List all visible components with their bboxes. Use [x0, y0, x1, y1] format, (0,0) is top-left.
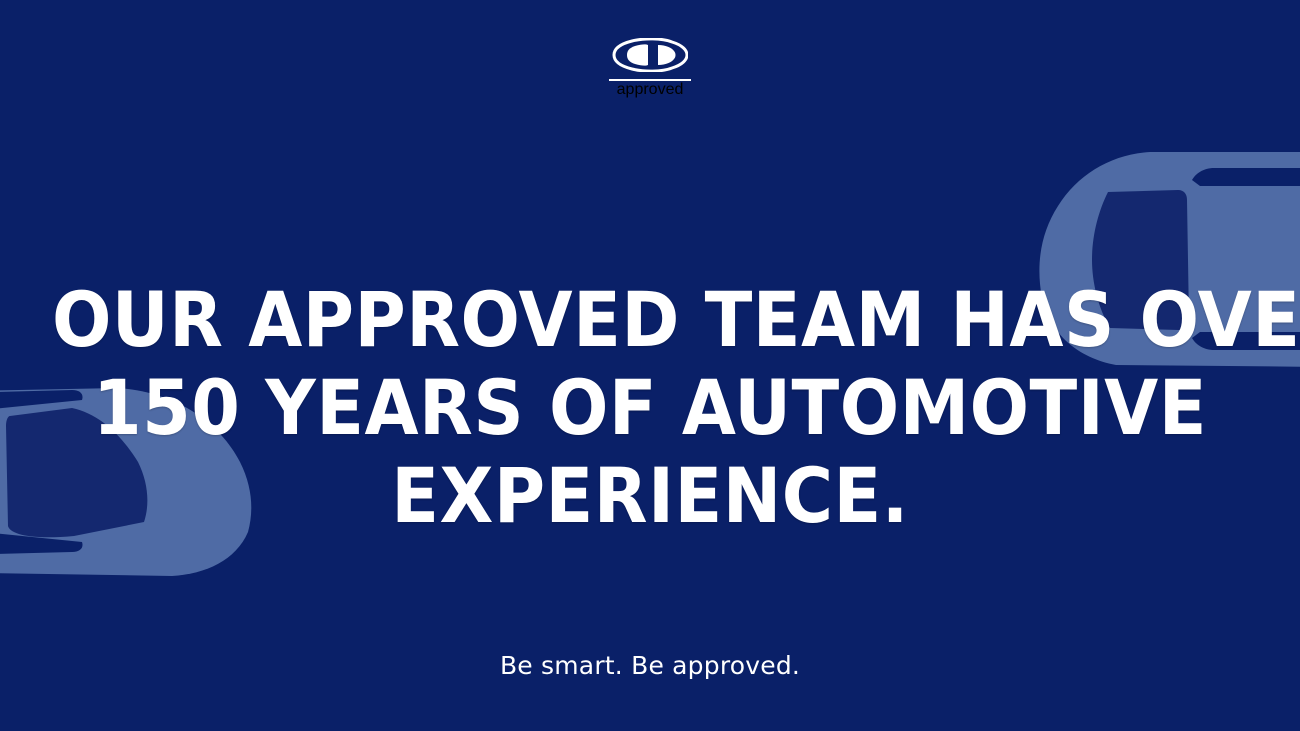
- slide-canvas: approved OUR APPROVED TEAM HAS OVER 150 …: [0, 0, 1300, 731]
- headline-line-2: 150 YEARS OF AUTOMOTIVE: [52, 364, 1248, 452]
- car-top-view-icon: [612, 38, 688, 72]
- tagline: Be smart. Be approved.: [0, 653, 1300, 678]
- headline-line-3: EXPERIENCE.: [52, 452, 1248, 540]
- brand-logo: approved: [0, 38, 1300, 99]
- logo-wordmark: approved: [617, 81, 684, 99]
- page-title: OUR APPROVED TEAM HAS OVER 150 YEARS OF …: [52, 276, 1248, 540]
- headline-line-1: OUR APPROVED TEAM HAS OVER: [52, 276, 1248, 364]
